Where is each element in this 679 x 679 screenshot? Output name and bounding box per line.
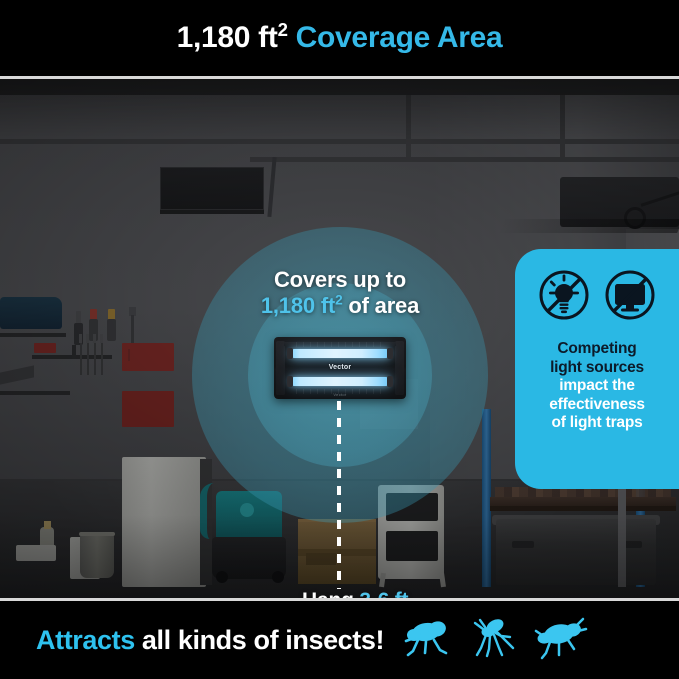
bottom-banner: Attracts all kinds of insects! <box>0 601 679 679</box>
white-box-item <box>16 545 56 561</box>
device-brand: Vector <box>274 364 406 371</box>
insect-light-trap-device: Vector Vector <box>274 337 406 399</box>
card-icon-row <box>515 269 679 326</box>
wall-shelf <box>0 391 70 395</box>
card-line-4: effectiveness <box>515 396 679 415</box>
coverage-tail: of area <box>342 293 419 318</box>
tube-cap <box>387 376 393 387</box>
card-line-3: impact the <box>515 377 679 396</box>
card-message: Competing light sources impact the effec… <box>515 340 679 433</box>
garage-heater <box>160 167 264 210</box>
red-tool-holder <box>122 391 174 427</box>
device-grid <box>296 342 384 347</box>
competing-light-card: Competing light sources impact the effec… <box>515 249 679 489</box>
screwdriver-handle <box>86 334 89 343</box>
garage-scene: Vector Vector Covers up to 1,180 ft2 of … <box>0 79 679 598</box>
card-line-2: light sources <box>515 359 679 378</box>
banner-accent: Attracts <box>36 625 135 655</box>
screwdriver-handle <box>93 334 96 343</box>
vacuum-logo <box>240 503 254 517</box>
infographic-page: 1,180 ft2 Coverage Area <box>0 0 679 679</box>
banner-headline: Attracts all kinds of insects! <box>36 625 384 656</box>
screwdriver-handle <box>100 334 103 343</box>
tube-cap <box>287 376 293 387</box>
header-value: 1,180 ft <box>177 21 278 54</box>
coverage-value: 1,180 ft <box>261 293 335 318</box>
storage-cabinet <box>122 457 206 587</box>
header-title-text: Coverage Area <box>288 21 503 54</box>
hang-value: 3-6 ft. <box>359 589 414 598</box>
tube-cap <box>287 348 293 359</box>
ceiling-post <box>560 95 565 157</box>
banner-rest: all kinds of insects! <box>135 625 384 655</box>
hang-height-dashed-line <box>337 401 341 589</box>
ceiling-beam <box>250 157 679 162</box>
hang-line-1: Hang 3-6 ft. <box>208 588 508 598</box>
header-superscript: 2 <box>278 19 288 40</box>
bin-handle <box>512 541 534 548</box>
coverage-label: Covers up to 1,180 ft2 of area <box>190 267 490 319</box>
tube-cap <box>387 348 393 359</box>
coverage-line-2: 1,180 ft2 of area <box>190 293 490 319</box>
mosquito-icon <box>468 615 520 666</box>
ceiling-band <box>0 79 679 95</box>
device-bottom-brand: Vector <box>274 392 406 397</box>
no-light-bulb-icon <box>538 269 590 326</box>
red-tool-holder <box>34 343 56 353</box>
hang-label: Hang 3-6 ft. off the ground <box>208 588 508 598</box>
page-title: 1,180 ft2 Coverage Area <box>177 23 503 53</box>
ceiling-post <box>406 95 411 157</box>
box-label <box>306 553 336 565</box>
tool-bag <box>0 297 62 329</box>
uv-tube-top <box>290 349 390 358</box>
workbench-shelf <box>490 497 676 506</box>
insect-icon-row <box>402 615 588 666</box>
wall-shelf <box>0 333 66 337</box>
wall-tool <box>72 345 76 359</box>
beetle-icon <box>534 615 588 666</box>
shelf-edge <box>490 506 676 511</box>
stool-step <box>386 531 438 561</box>
hang-lead: Hang <box>302 589 359 598</box>
uv-tube-bottom <box>290 377 390 386</box>
header-bar: 1,180 ft2 Coverage Area <box>0 0 679 76</box>
heater-base <box>160 210 264 214</box>
vacuum-wheel <box>272 571 284 583</box>
opener-shadow <box>497 219 679 233</box>
no-monitor-icon <box>604 269 656 326</box>
ceiling-beam <box>0 139 679 144</box>
wall-tool <box>107 319 116 341</box>
coverage-line-1: Covers up to <box>190 267 490 293</box>
screwdriver-handle <box>79 334 82 343</box>
bucket-item <box>80 534 114 578</box>
card-line-1: Competing <box>515 340 679 359</box>
bottle-cap <box>44 521 51 529</box>
fly-icon <box>402 615 454 666</box>
storage-bin <box>496 519 656 585</box>
bucket-rim <box>79 532 115 536</box>
vacuum-wheel <box>216 571 228 583</box>
wall-tool <box>128 349 130 361</box>
card-line-5: of light traps <box>515 414 679 433</box>
